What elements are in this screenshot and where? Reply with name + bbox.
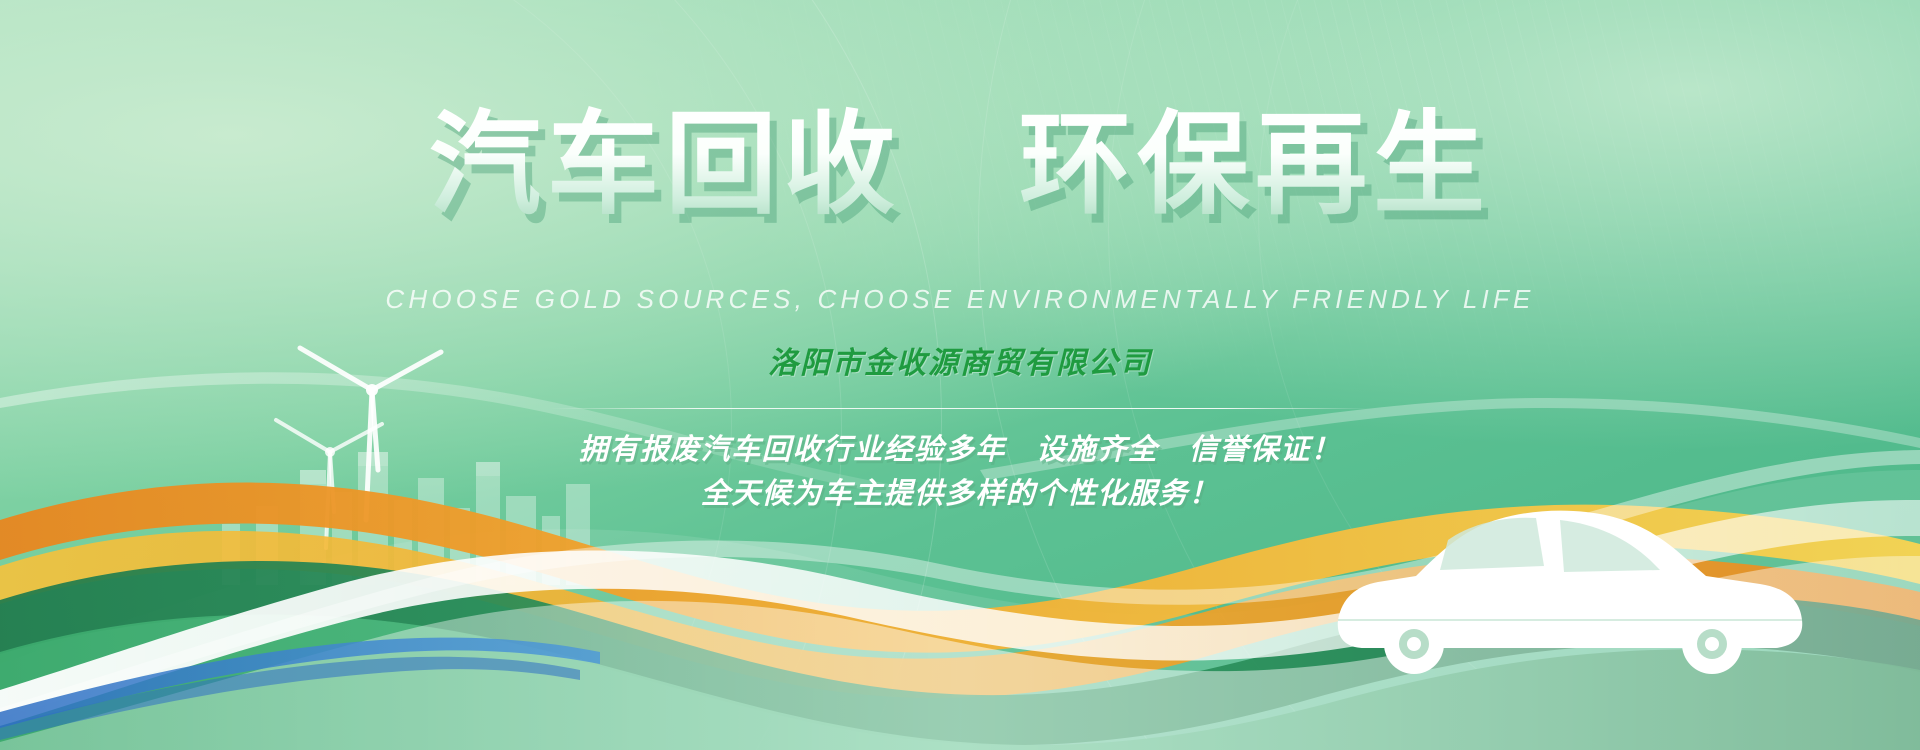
company-name: 洛阳市金收源商贸有限公司 [0, 338, 1920, 382]
english-tagline: CHOOSE GOLD SOURCES, CHOOSE ENVIRONMENTA… [0, 284, 1920, 315]
promo-banner: 汽车回收 环保再生 CHOOSE GOLD SOURCES, CHOOSE EN… [0, 0, 1920, 750]
page-title: 汽车回收 环保再生 [0, 106, 1920, 225]
description-line-2: 全天候为车主提供多样的个性化服务！ [0, 470, 1920, 512]
divider [550, 408, 1370, 409]
description-line-1: 拥有报废汽车回收行业经验多年 设施齐全 信誉保证！ [0, 426, 1920, 468]
